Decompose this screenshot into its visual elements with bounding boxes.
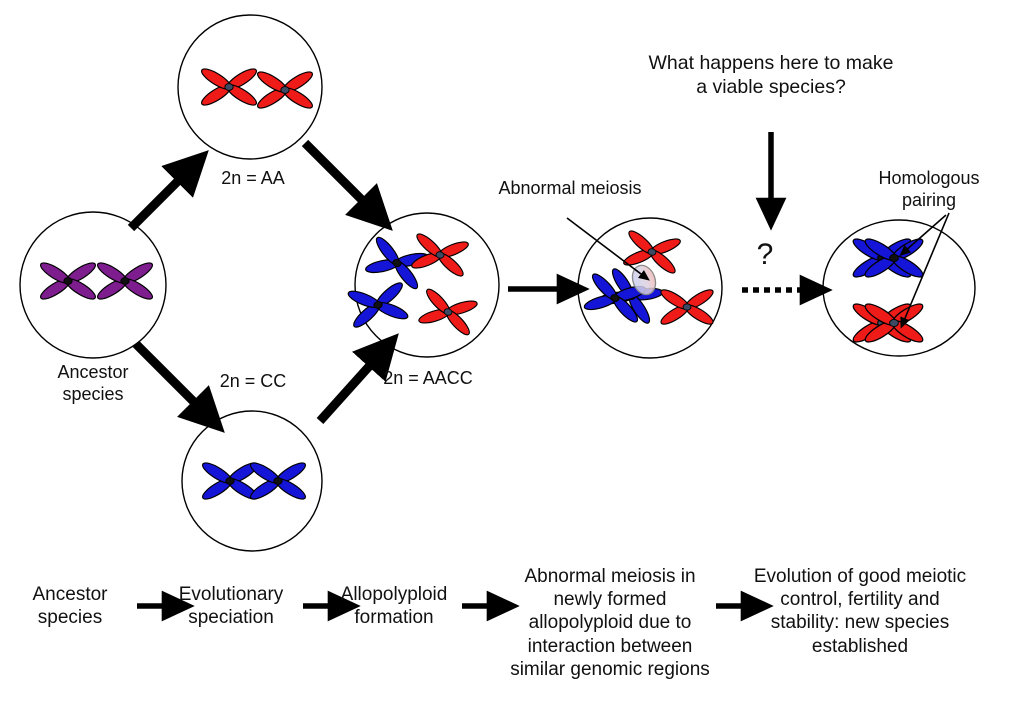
centromere	[890, 319, 899, 326]
question-top-text: What happens here to makea viable specie…	[649, 52, 894, 100]
arrow-cc-to-aacc	[320, 352, 382, 421]
pointer-abnormal-meiosis	[567, 218, 645, 277]
chromosome-red	[620, 227, 683, 277]
arrow-ancestor-to-cc	[136, 344, 207, 415]
chromosome-red	[255, 68, 315, 111]
aa-species-cell	[178, 15, 322, 159]
ancestor-species-caption: Ancestorspecies	[57, 362, 128, 406]
centromere	[225, 84, 233, 91]
centromere	[121, 278, 129, 285]
flow-step-evolutionary-speciation: Evolutionaryspeciation	[179, 583, 284, 629]
cc-species-cell	[182, 411, 322, 551]
homologous-pairing-label: Homologouspairing	[878, 168, 979, 212]
centromere	[64, 278, 72, 285]
diagram-canvas: Ancestorspecies 2n = AA 2n = CC 2n = AAC…	[0, 0, 1024, 708]
aa-caption: 2n = AA	[221, 168, 285, 190]
cell-membrane-outline	[355, 213, 499, 357]
abnormal-meiosis-label: Abnormal meiosis	[498, 178, 641, 200]
arrow-aa-to-aacc	[305, 143, 375, 213]
chromosome-purple	[95, 259, 155, 302]
flow-step-ancestor-species: Ancestorspecies	[33, 583, 108, 629]
flow-step-allopolyploid-formation: Allopolyploidformation	[341, 583, 448, 629]
centromere	[226, 478, 234, 485]
chromosome-purple	[38, 259, 98, 302]
centromere	[274, 478, 282, 485]
cell-membrane-outline	[182, 411, 322, 551]
centromere	[281, 87, 289, 94]
cc-caption: 2n = CC	[220, 371, 287, 393]
question-mark-label: ?	[757, 240, 774, 270]
chromosome-red	[659, 287, 716, 328]
flow-step-abnormal-meiosis: Abnormal meiosis innewly formedallopolyp…	[510, 565, 710, 681]
aacc-allopolyploid-cell	[345, 213, 499, 357]
viable-species-cell	[823, 220, 975, 356]
chromosome-red	[415, 285, 481, 339]
ancestor-species-cell	[20, 212, 166, 358]
cell-membrane-outline	[20, 212, 166, 358]
centromere	[890, 254, 899, 261]
abnormal-meiosis-cell	[578, 218, 722, 358]
flow-step-new-species-established: Evolution of good meioticcontrol, fertil…	[754, 565, 966, 658]
chromosome-blue	[248, 459, 308, 502]
chromosome-red	[199, 65, 259, 108]
arrow-ancestor-to-aa	[131, 168, 191, 228]
aacc-caption: 2n = AACC	[383, 368, 473, 390]
centromere	[683, 304, 691, 310]
